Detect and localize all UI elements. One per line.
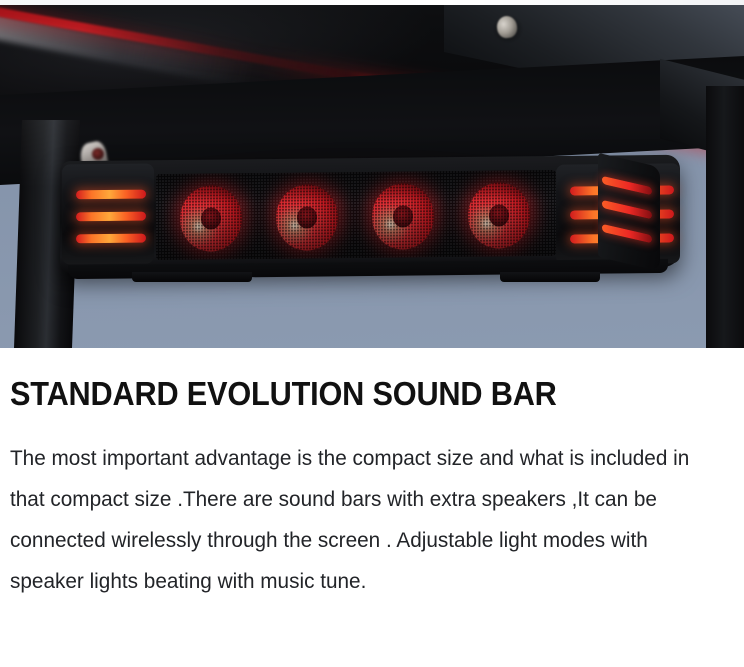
grille-shading bbox=[156, 170, 556, 260]
soundbar-mount-tab-right bbox=[500, 272, 600, 282]
product-card: STANDARD EVOLUTION SOUND BAR The most im… bbox=[0, 0, 744, 667]
photo-top-edge bbox=[0, 0, 744, 5]
left-light-strip-2 bbox=[76, 212, 146, 222]
product-title: STANDARD EVOLUTION SOUND BAR bbox=[10, 348, 683, 414]
soundbar-mount-tab-left bbox=[132, 272, 252, 282]
product-photo bbox=[0, 0, 744, 348]
side-light-strip-2 bbox=[602, 200, 652, 220]
soundbar-side-panel bbox=[598, 153, 660, 271]
left-light-strip-3 bbox=[76, 234, 146, 244]
side-light-strip-3 bbox=[602, 224, 652, 244]
soundbar-unit bbox=[60, 158, 680, 282]
soundbar-endcap-left bbox=[62, 164, 154, 265]
product-description: The most important advantage is the comp… bbox=[10, 414, 709, 602]
desk-leg-right bbox=[706, 86, 744, 348]
left-light-strip-1 bbox=[76, 190, 146, 200]
speaker-grille bbox=[156, 170, 556, 260]
side-light-strip-1 bbox=[602, 176, 652, 196]
product-description-section: STANDARD EVOLUTION SOUND BAR The most im… bbox=[0, 348, 744, 602]
